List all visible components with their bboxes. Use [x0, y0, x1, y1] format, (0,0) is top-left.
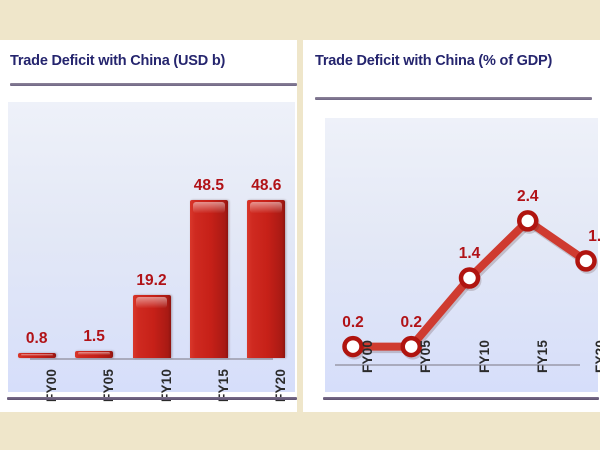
bar-FY05 [75, 351, 113, 358]
bar-value-label-FY10: 19.2 [122, 272, 182, 290]
line-marker-FY10 [461, 270, 478, 287]
line-chart-xtick-FY15: FY15 [535, 340, 550, 373]
bar-chart-bars-layer: 0.8FY001.5FY0519.2FY1048.5FY1548.6FY20 [8, 102, 295, 392]
bar-FY00 [18, 353, 56, 358]
line-chart-xtick-FY20: FY20 [593, 340, 600, 373]
bar-value-label-FY00: 0.8 [7, 330, 67, 348]
line-value-label-FY00: 0.2 [326, 314, 380, 332]
line-chart-xtick-FY00: FY00 [360, 340, 375, 373]
line-value-label-FY20: 1.7 [572, 228, 600, 246]
bar-FY15 [190, 200, 228, 358]
screenshot-root: Trade Deficit with China (USD b) 0.8FY00… [0, 0, 600, 450]
line-chart-series-layer: 0.2FY000.2FY051.4FY102.4FY151.7FY20 [325, 118, 598, 392]
bar-FY20 [247, 200, 285, 358]
line-marker-FY00 [345, 338, 362, 355]
bar-value-label-FY15: 48.5 [179, 177, 239, 195]
line-chart-plot-area: 0.2FY000.2FY051.4FY102.4FY151.7FY20 [325, 118, 598, 392]
line-chart-xtick-FY10: FY10 [477, 340, 492, 373]
line-marker-FY20 [578, 252, 595, 269]
line-chart-panel: Trade Deficit with China (% of GDP) 0.2F… [303, 40, 600, 412]
line-chart-bottom-divider [323, 397, 599, 400]
bar-value-label-FY05: 1.5 [64, 328, 124, 346]
line-chart-title-divider [315, 97, 592, 100]
bar-chart-axis-line [30, 358, 273, 360]
line-marker-FY15 [519, 212, 536, 229]
line-chart-title: Trade Deficit with China (% of GDP) [315, 52, 587, 71]
line-chart-xtick-FY05: FY05 [418, 340, 433, 373]
line-value-label-FY10: 1.4 [443, 245, 497, 263]
bar-chart-panel: Trade Deficit with China (USD b) 0.8FY00… [0, 40, 297, 412]
bar-FY10 [133, 295, 171, 358]
bar-chart-title: Trade Deficit with China (USD b) [10, 52, 288, 71]
bar-value-label-FY20: 48.6 [236, 177, 296, 195]
bar-chart-bottom-divider [7, 397, 297, 400]
bar-chart-plot-area: 0.8FY001.5FY0519.2FY1048.5FY1548.6FY20 [8, 102, 295, 392]
line-value-label-FY05: 0.2 [384, 314, 438, 332]
bar-chart-title-divider [10, 83, 297, 86]
line-value-label-FY15: 2.4 [501, 188, 555, 206]
